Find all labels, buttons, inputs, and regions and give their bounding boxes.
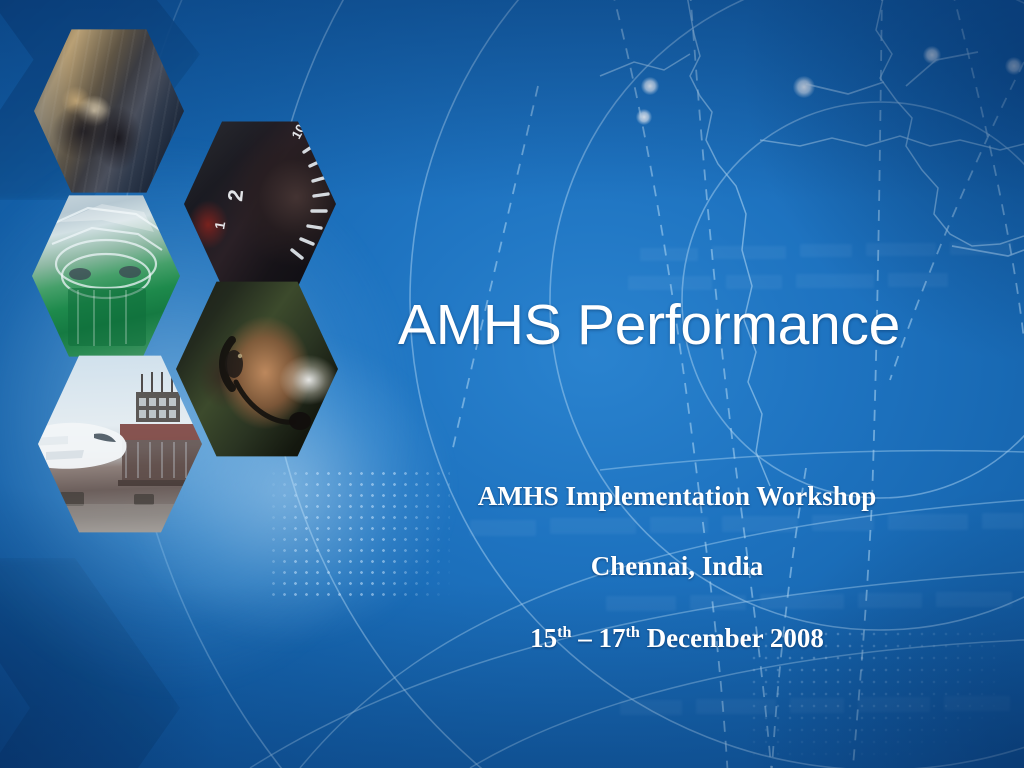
headset-boom-mic bbox=[176, 278, 338, 460]
date-day-end-suffix: th bbox=[626, 623, 640, 641]
subtitle-date-line: 15th – 17th December 2008 bbox=[330, 625, 1024, 652]
slide-subtitle-block: AMHS Implementation Workshop Chennai, In… bbox=[330, 483, 1024, 652]
subtitle-location-line: Chennai, India bbox=[330, 553, 1024, 580]
presentation-slide: 2 10 1 bbox=[0, 0, 1024, 768]
date-month-year: December 2008 bbox=[640, 623, 824, 653]
hex-aircraft-terminal-image bbox=[38, 352, 202, 536]
waypoint-connectors bbox=[806, 52, 1024, 256]
hex-instrument-gauge-image: 2 10 1 bbox=[184, 118, 336, 290]
subtitle-workshop-line: AMHS Implementation Workshop bbox=[330, 483, 1024, 510]
date-day-end: 17 bbox=[599, 623, 626, 653]
waypoint-nodes bbox=[636, 46, 1023, 125]
slide-title: AMHS Performance bbox=[398, 296, 998, 356]
date-separator: – bbox=[572, 623, 599, 653]
hex-headset-operator-image bbox=[176, 278, 338, 460]
hex-control-room-image bbox=[34, 26, 184, 196]
hexagon-photo-collage: 2 10 1 bbox=[0, 0, 380, 560]
aircraft-terminal-shapes bbox=[38, 352, 202, 536]
tower-structure-lines bbox=[32, 192, 180, 360]
date-day-start-suffix: th bbox=[557, 623, 571, 641]
airspace-boundary-lines bbox=[600, 0, 1024, 486]
date-day-start: 15 bbox=[530, 623, 557, 653]
hex-control-tower-image bbox=[32, 192, 180, 360]
